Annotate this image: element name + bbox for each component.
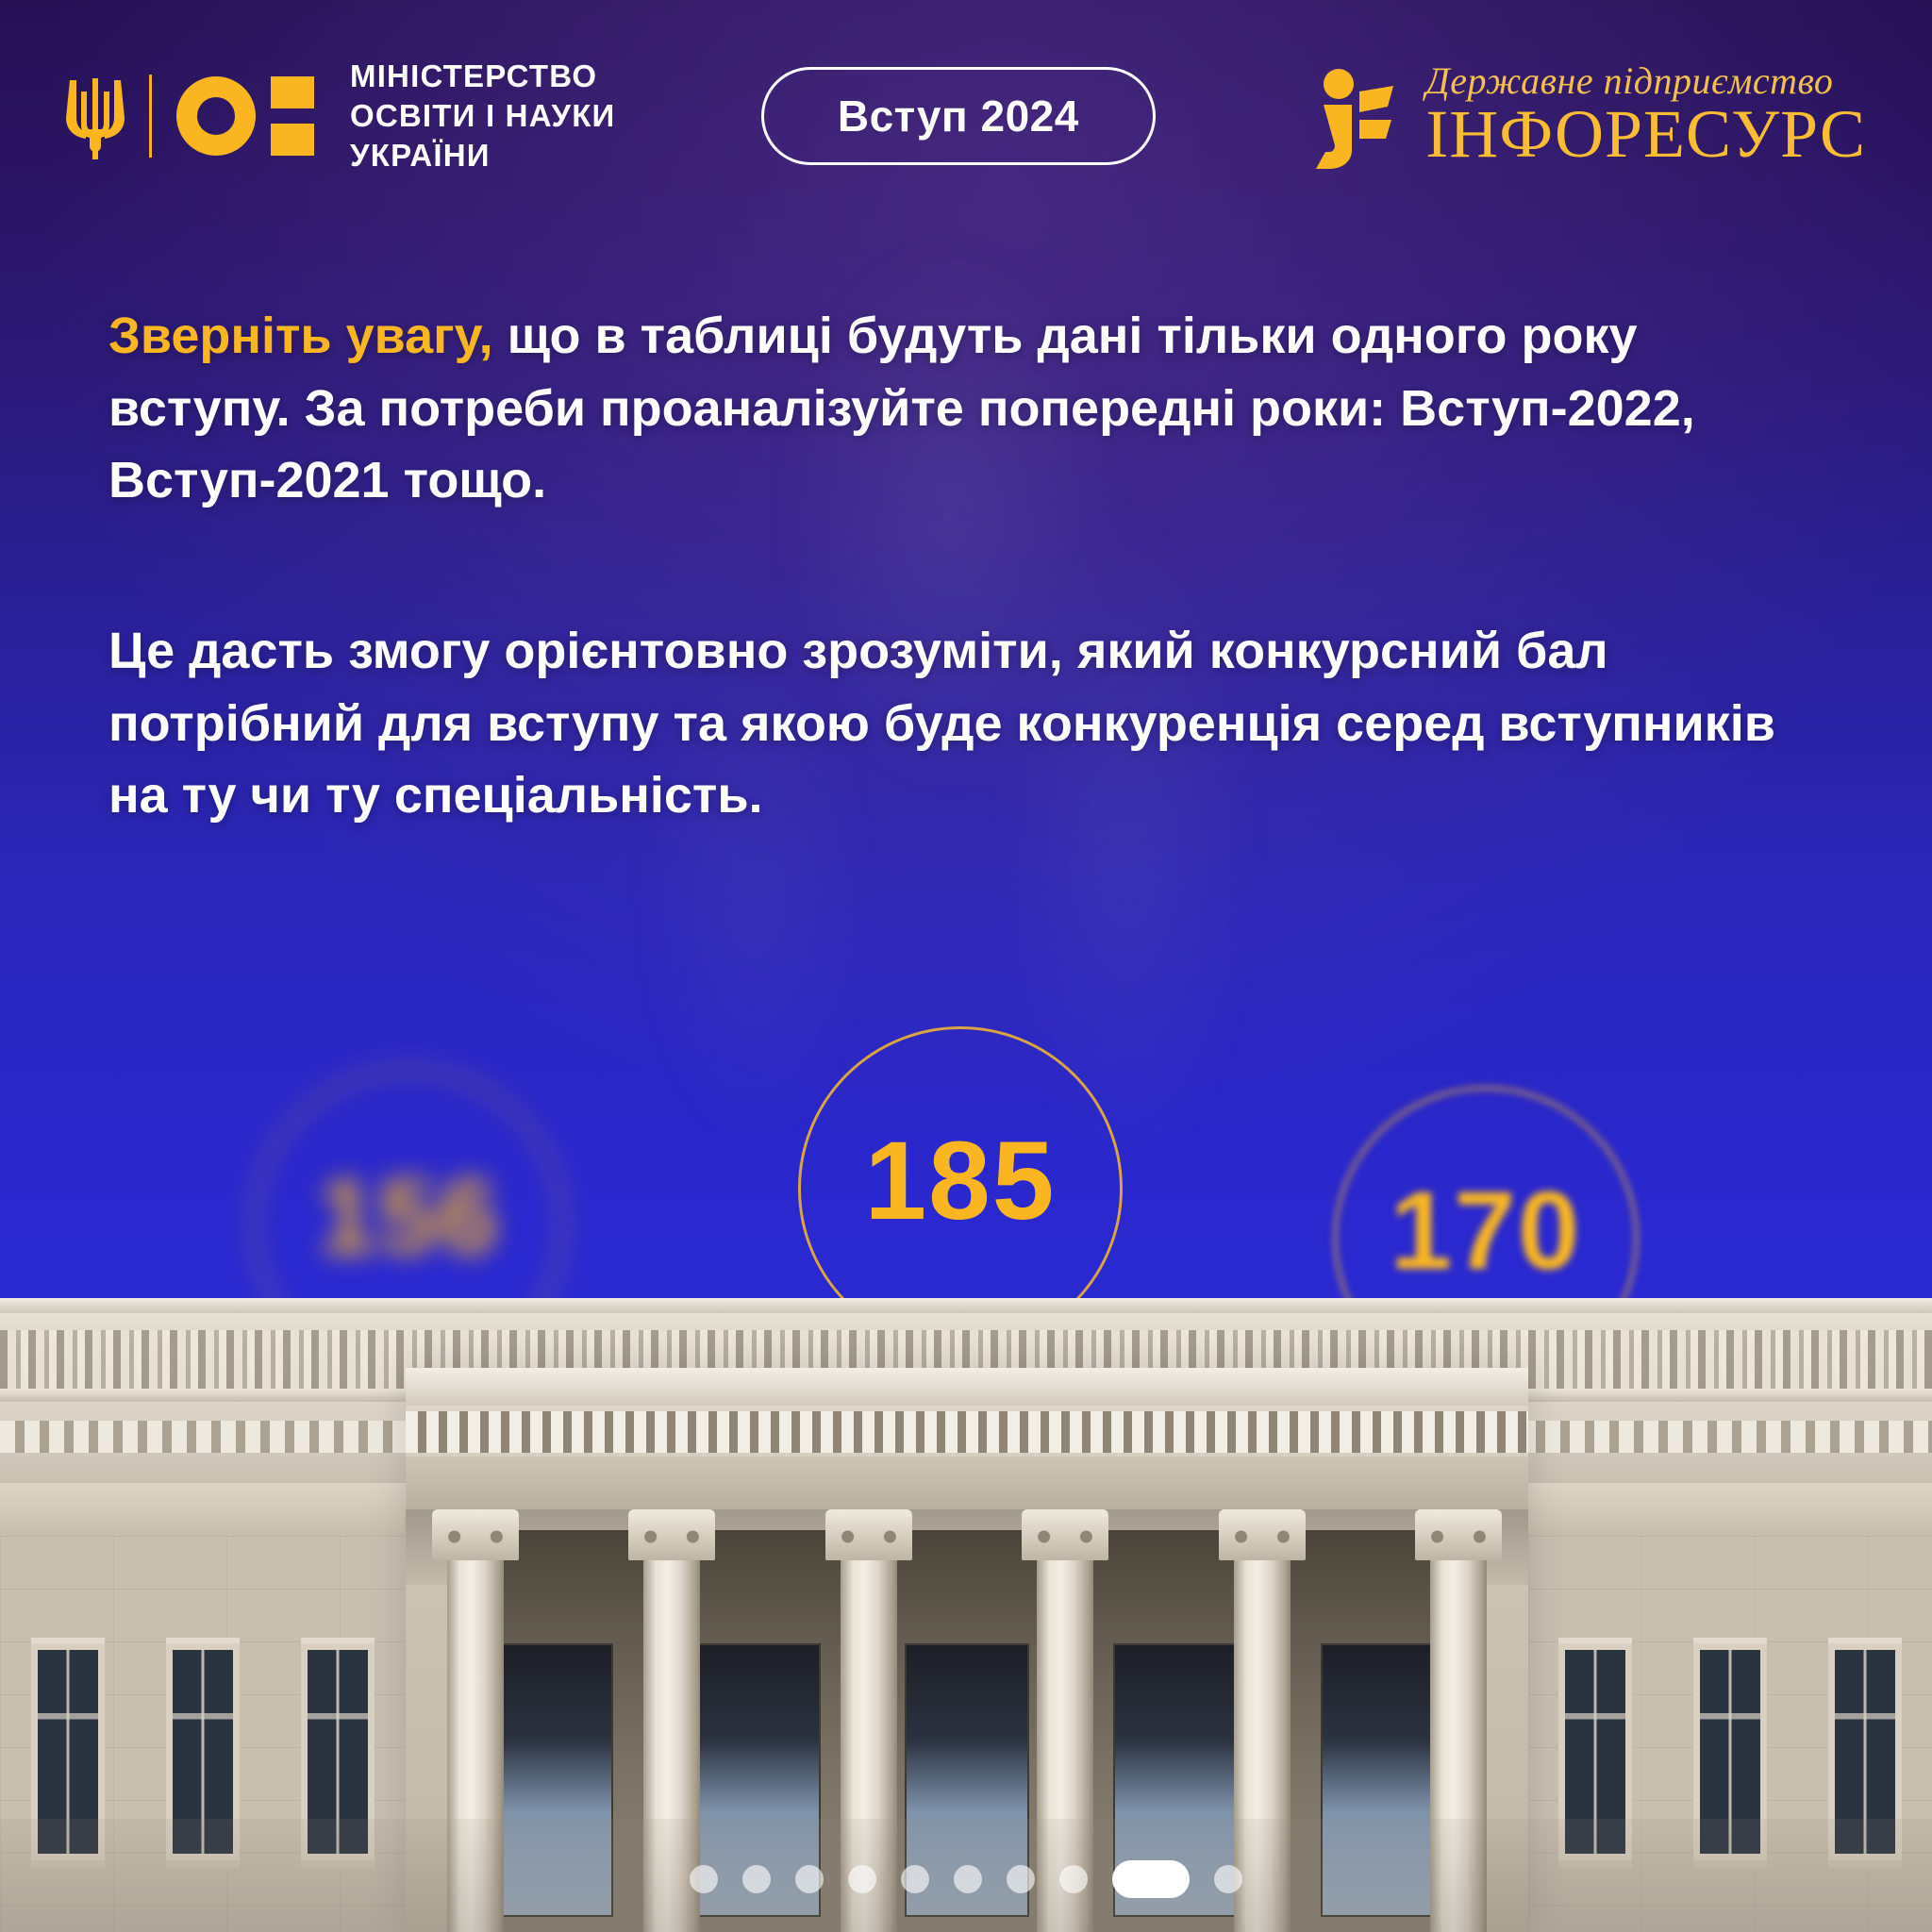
pagination-dot[interactable] bbox=[954, 1865, 982, 1893]
logo-divider bbox=[149, 75, 152, 158]
pagination-dot-active[interactable] bbox=[1112, 1860, 1190, 1898]
pagination-dot[interactable] bbox=[742, 1865, 771, 1893]
paragraph-1-accent: Зверніть увагу, bbox=[108, 308, 493, 364]
wing-band bbox=[1528, 1483, 1932, 1536]
ministry-line-2: ОСВІТИ І НАУКИ bbox=[350, 96, 615, 136]
paragraph-2: Це дасть змогу орієнтовно зрозуміти, яки… bbox=[108, 615, 1797, 832]
body-copy: Зверніть увагу, що в таблиці будуть дані… bbox=[108, 300, 1797, 832]
building-photo bbox=[0, 1298, 1932, 1932]
column-capital bbox=[432, 1509, 519, 1560]
trident-icon bbox=[66, 71, 125, 161]
portico-cap bbox=[406, 1368, 1528, 1406]
column-capital bbox=[1219, 1509, 1306, 1560]
pagination-dots[interactable] bbox=[0, 1860, 1932, 1898]
slide-root: МІНІСТЕРСТВО ОСВІТИ І НАУКИ УКРАЇНИ Всту… bbox=[0, 0, 1932, 1932]
portico-architrave bbox=[406, 1457, 1528, 1509]
inforesurs-logo[interactable]: Державне підприємство ІНФОРЕСУРС bbox=[1301, 62, 1866, 169]
cornice-top bbox=[0, 1298, 1932, 1313]
oe-equals-shape bbox=[271, 76, 314, 156]
ministry-line-3: УКРАЇНИ bbox=[350, 136, 615, 175]
inforesurs-subtitle: Державне підприємство bbox=[1425, 62, 1833, 100]
inforesurs-text: Державне підприємство ІНФОРЕСУРС bbox=[1425, 62, 1866, 169]
pagination-dot[interactable] bbox=[901, 1865, 929, 1893]
column-capital bbox=[1415, 1509, 1502, 1560]
wing-band bbox=[0, 1483, 406, 1536]
ministry-line-1: МІНІСТЕРСТВО bbox=[350, 57, 615, 96]
paragraph-1: Зверніть увагу, що в таблиці будуть дані… bbox=[108, 300, 1797, 517]
inforesurs-mark-icon bbox=[1301, 63, 1405, 169]
pagination-dot[interactable] bbox=[1059, 1865, 1088, 1893]
oe-circle-shape bbox=[176, 76, 256, 156]
pagination-dot[interactable] bbox=[690, 1865, 718, 1893]
pagination-dot[interactable] bbox=[795, 1865, 824, 1893]
pagination-dot[interactable] bbox=[1007, 1865, 1035, 1893]
inforesurs-title: ІНФОРЕСУРС bbox=[1425, 100, 1866, 169]
ministry-logo[interactable]: МІНІСТЕРСТВО ОСВІТИ І НАУКИ УКРАЇНИ bbox=[66, 57, 615, 176]
portico-dentils bbox=[406, 1411, 1528, 1453]
admission-year-badge[interactable]: Вступ 2024 bbox=[761, 67, 1156, 165]
column-capital bbox=[1022, 1509, 1108, 1560]
column-capital bbox=[825, 1509, 912, 1560]
badge-container: Вступ 2024 bbox=[615, 67, 1301, 165]
mon-oe-logo-icon bbox=[176, 76, 314, 156]
pagination-dot[interactable] bbox=[1214, 1865, 1242, 1893]
ministry-name: МІНІСТЕРСТВО ОСВІТИ І НАУКИ УКРАЇНИ bbox=[350, 57, 615, 176]
column-capital bbox=[628, 1509, 715, 1560]
header-bar: МІНІСТЕРСТВО ОСВІТИ І НАУКИ УКРАЇНИ Всту… bbox=[0, 55, 1932, 177]
pagination-dot[interactable] bbox=[848, 1865, 876, 1893]
